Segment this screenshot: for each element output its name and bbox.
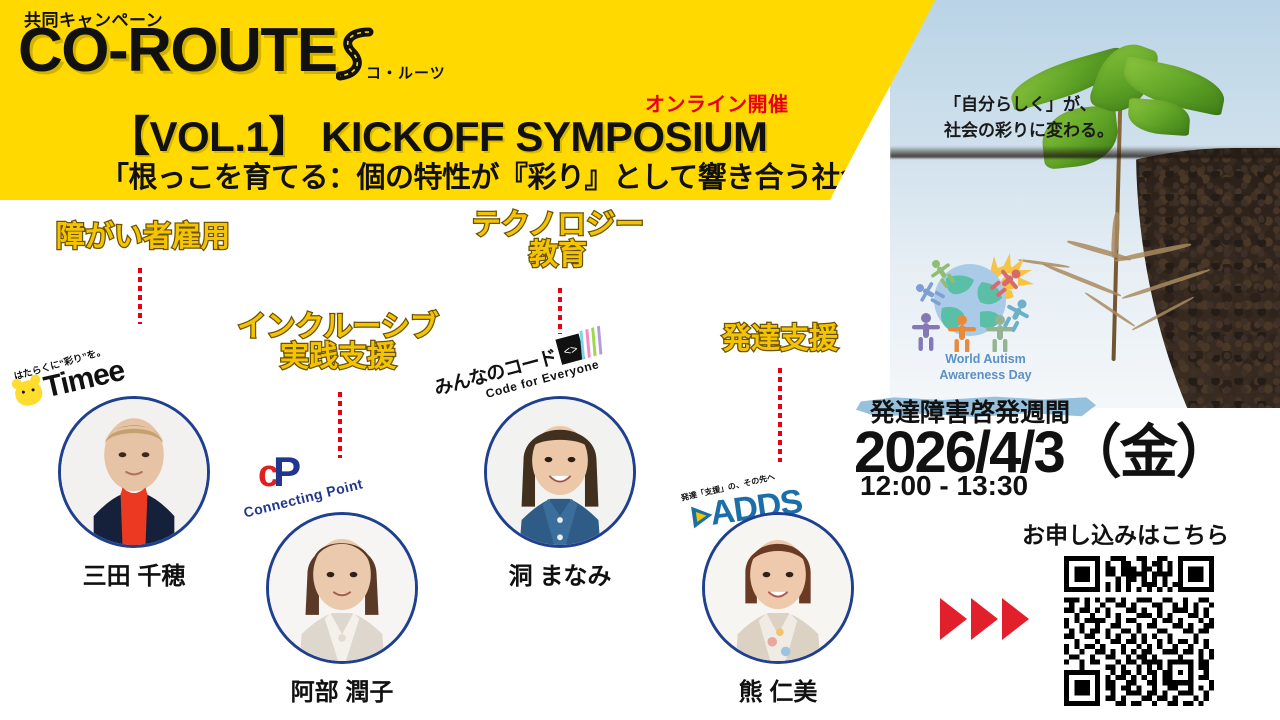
portrait-photo <box>487 399 633 545</box>
category-label-employment: 障がい者雇用 <box>38 222 248 252</box>
logo-connecting-point: cP Connecting Point <box>244 446 394 526</box>
event-time: 12:00 - 13:30 <box>860 470 1028 502</box>
dotted-connector-employment <box>138 268 142 324</box>
apply-label: お申し込みはこちら <box>1022 516 1229 550</box>
portrait-mita-chiho <box>58 396 210 548</box>
symposium-tagline: 「根っこを育てる：個の特性が『彩り』として響き合う社会」 <box>100 154 897 196</box>
brand-title: CO-ROUTE <box>18 20 337 82</box>
category-label-technology: テクノロジー 教育 <box>458 210 658 271</box>
event-poster: 共同キャンペーン CO-ROUTE コ・ルーツ オンライン開催 【VOL.1】 … <box>0 0 1280 720</box>
dotted-connector-technology <box>558 288 562 334</box>
header-banner: 共同キャンペーン CO-ROUTE コ・ルーツ オンライン開催 【VOL.1】 … <box>0 0 935 200</box>
speaker-name-mita-chiho: 三田 千穂 <box>58 556 210 591</box>
soil-surface-line <box>890 146 1280 158</box>
portrait-hora-manami <box>484 396 636 548</box>
cp-c-mark: c <box>258 453 273 495</box>
speaker-name-hora-manami: 洞 まなみ <box>484 556 636 591</box>
registration-qr-code[interactable] <box>1064 556 1214 706</box>
logo-minna-no-code: みんなのコード Code for Everyone <> <box>430 330 620 402</box>
brand-ruby: コ・ルーツ <box>366 62 446 83</box>
world-autism-awareness-day-logo: World Autism Awareness Day <box>898 248 1073 383</box>
code-flag-icon: <> <box>554 321 617 370</box>
speaker-name-abe-junko: 阿部 潤子 <box>266 672 418 707</box>
portrait-kuma-hitomi <box>702 512 854 664</box>
globe-people-icon <box>898 248 1073 352</box>
timee-bear-icon <box>13 377 45 407</box>
arrow-chevrons-icon <box>940 598 1045 640</box>
portrait-photo <box>705 515 851 661</box>
speaker-name-kuma-hitomi: 熊 仁美 <box>702 672 854 707</box>
portrait-photo <box>269 515 415 661</box>
waad-caption-line-1: World Autism <box>898 352 1073 368</box>
cp-p-mark: P <box>273 448 301 495</box>
category-label-development: 発達支援 <box>700 324 860 354</box>
waad-caption: World Autism Awareness Day <box>898 352 1073 383</box>
category-label-inclusive: インクルーシブ 実践支援 <box>228 312 448 373</box>
logo-timee: はたらくに“彩り”を。 Timee <box>6 340 166 402</box>
waad-caption-line-2: Awareness Day <box>898 368 1073 384</box>
portrait-photo <box>61 399 207 545</box>
portrait-abe-junko <box>266 512 418 664</box>
hero-quote-line-2: 社会の彩りに変わる。 <box>944 118 1174 144</box>
hero-quote: 「自分らしく」が、 社会の彩りに変わる。 <box>944 92 1174 145</box>
dotted-connector-development <box>778 368 782 462</box>
hero-quote-line-1: 「自分らしく」が、 <box>944 92 1174 118</box>
qr-code-image[interactable] <box>1064 556 1214 706</box>
